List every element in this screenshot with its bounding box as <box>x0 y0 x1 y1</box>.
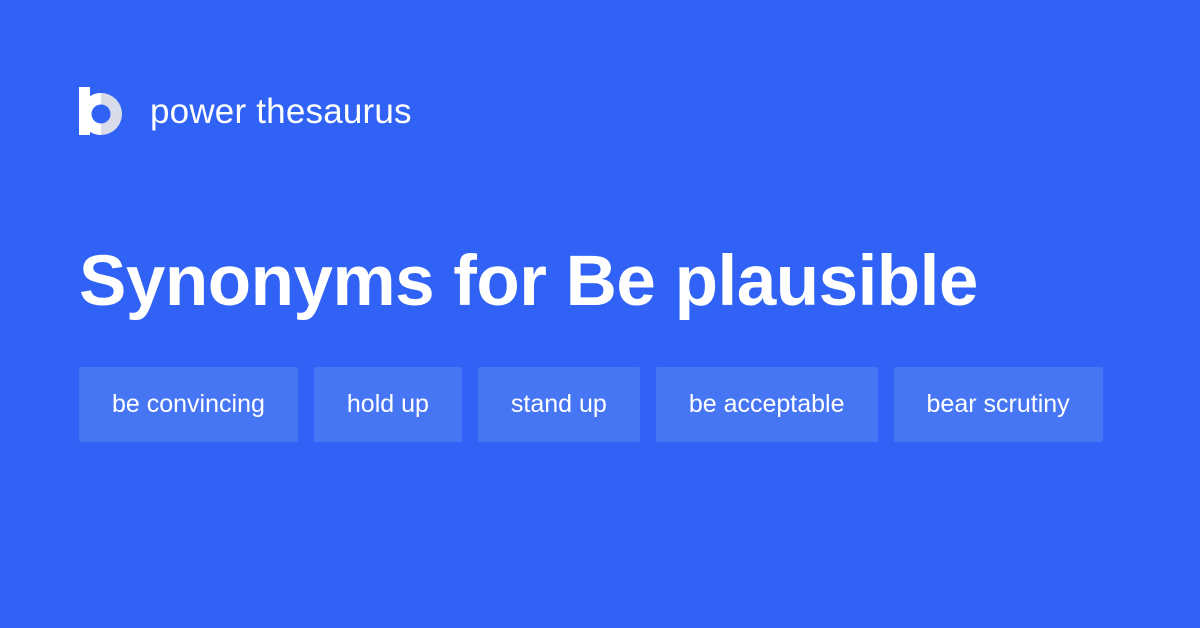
synonym-chip[interactable]: stand up <box>478 367 640 442</box>
page-title: Synonyms for Be plausible <box>79 246 1139 318</box>
brand-header[interactable]: power thesaurus <box>79 82 412 140</box>
synonyms-share-card: power thesaurus Synonyms for Be plausibl… <box>0 0 1200 628</box>
synonym-chip[interactable]: be convincing <box>79 367 298 442</box>
brand-name: power thesaurus <box>150 94 412 129</box>
synonym-chip[interactable]: hold up <box>314 367 462 442</box>
synonym-chip[interactable]: bear scrutiny <box>894 367 1103 442</box>
synonym-chip[interactable]: be acceptable <box>656 367 878 442</box>
power-thesaurus-b-logo-icon <box>79 87 123 135</box>
synonym-chip-list: be convincing hold up stand up be accept… <box>79 367 1129 442</box>
